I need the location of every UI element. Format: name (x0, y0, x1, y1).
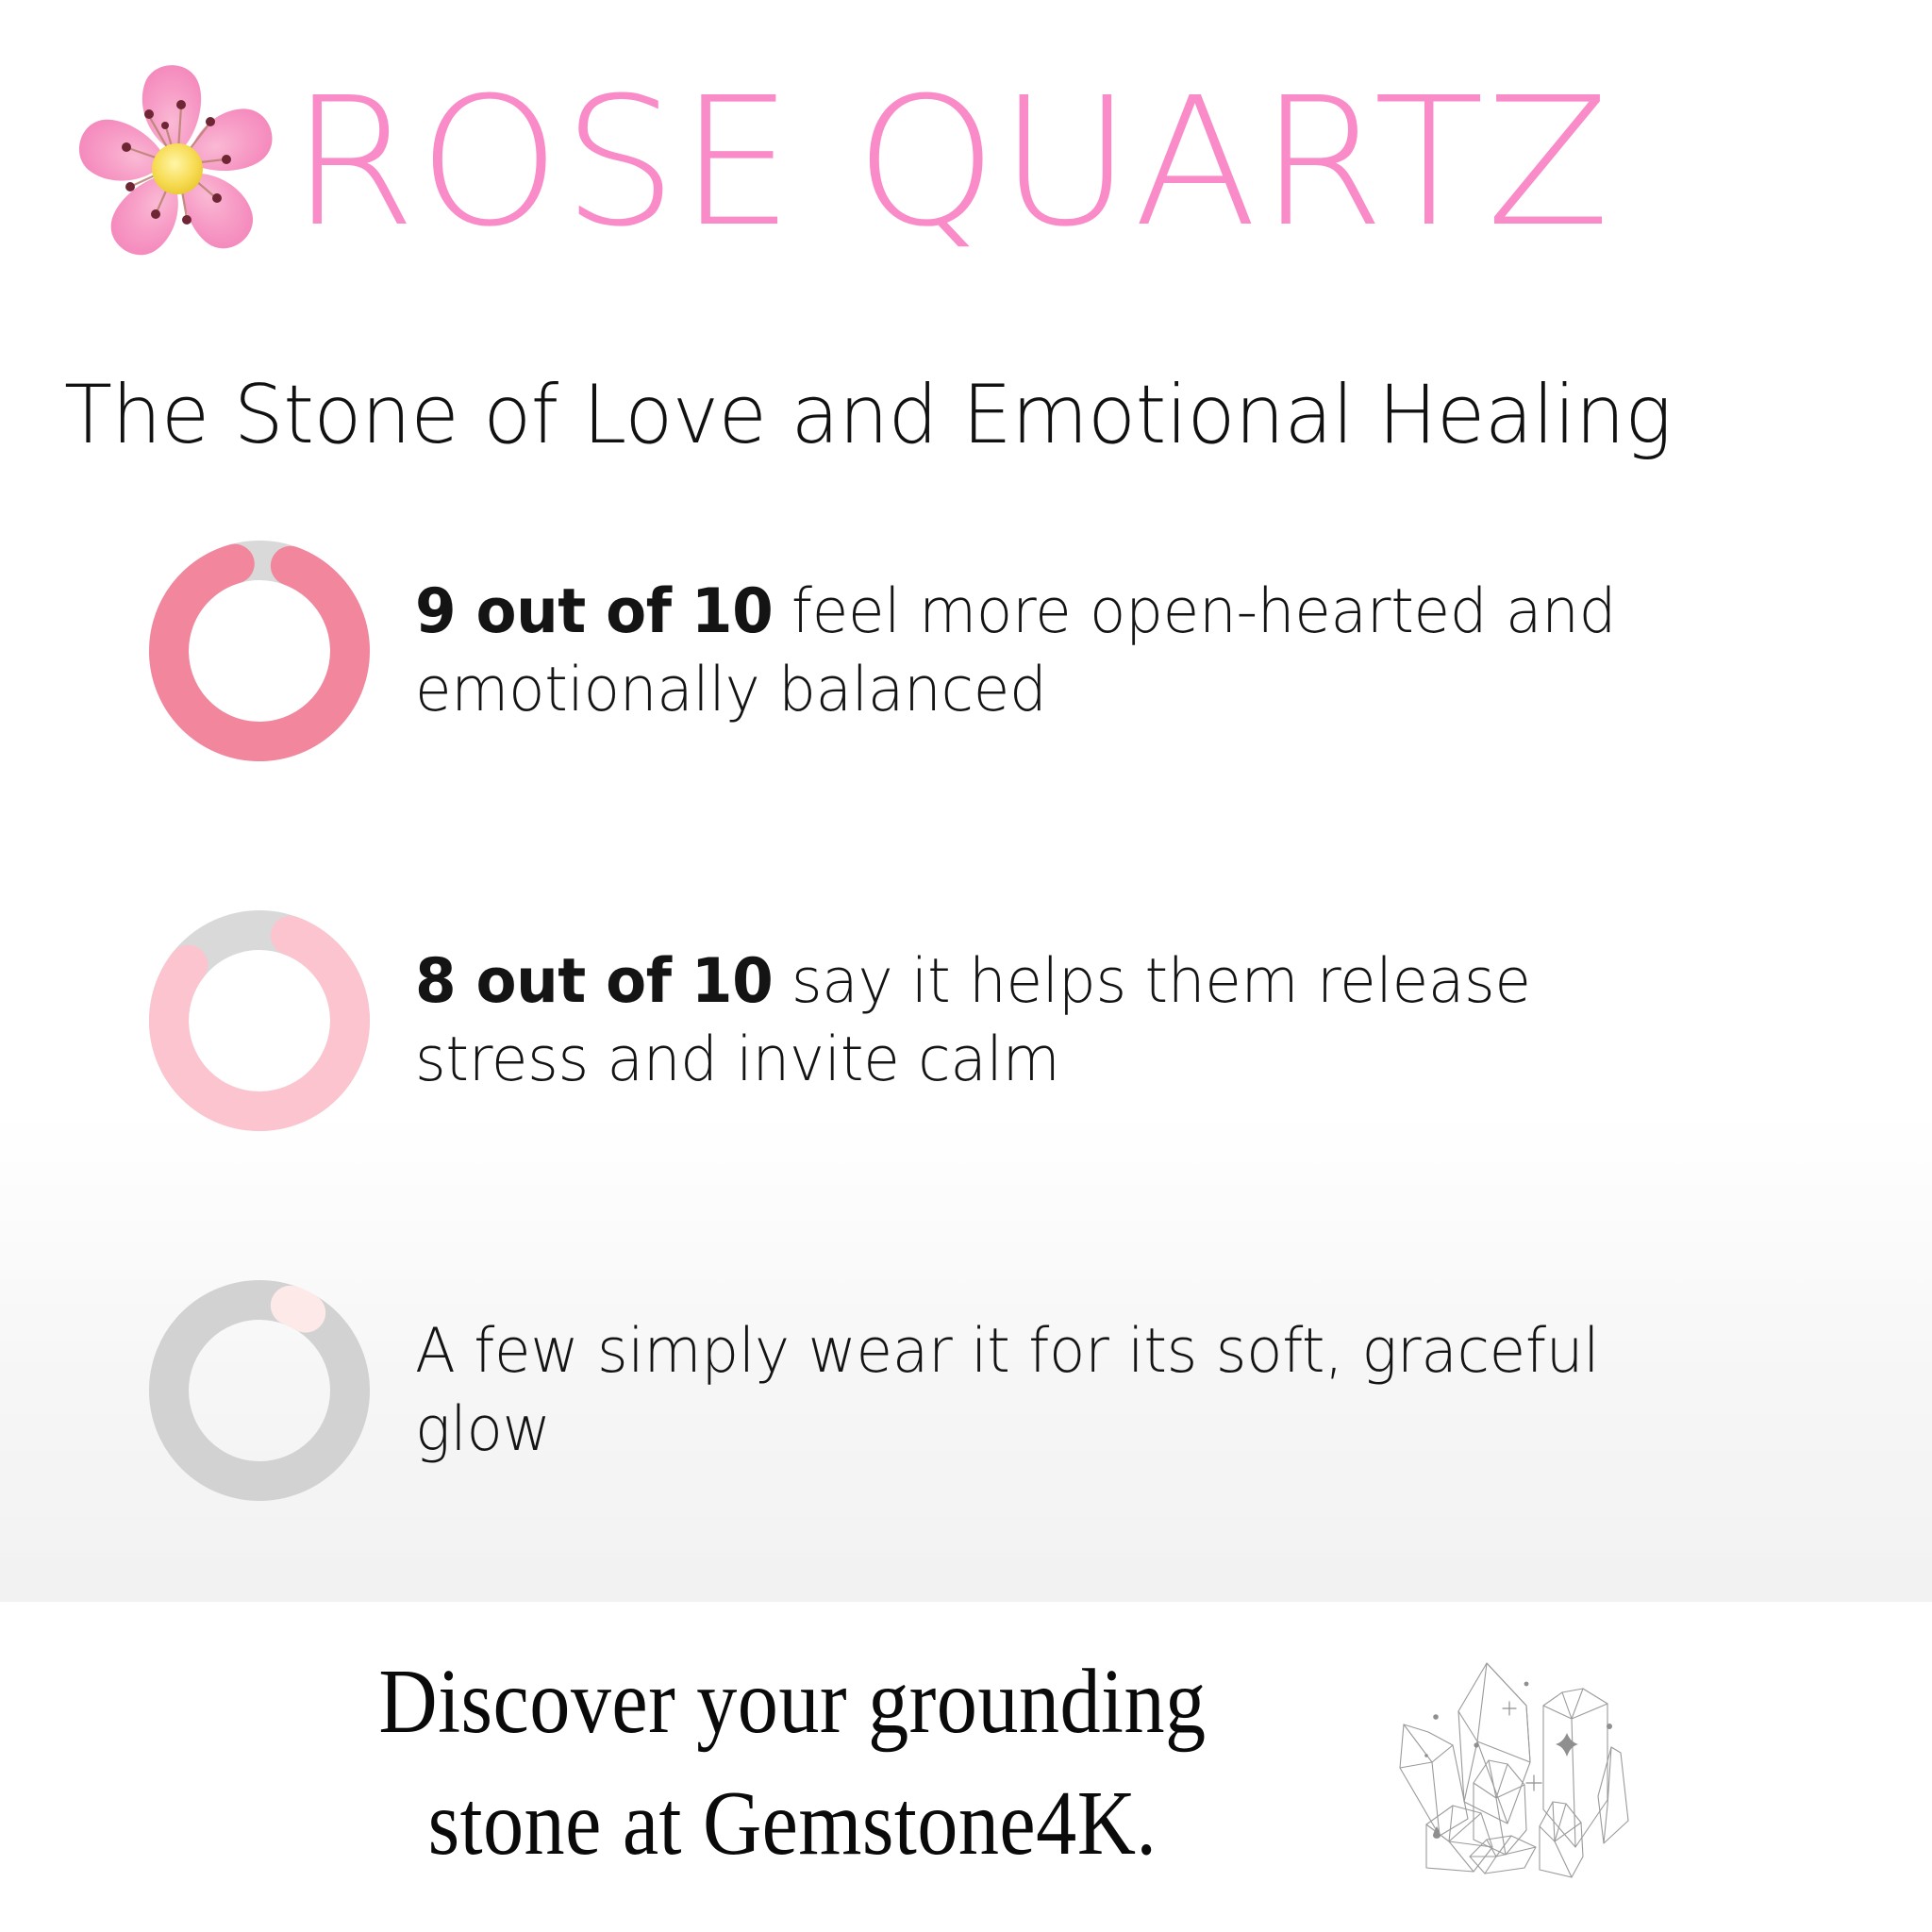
progress-ring-icon-1 (143, 535, 375, 767)
footer-cta: Discover your grounding stone at Gemston… (303, 1641, 1282, 1886)
stat-row: 8 out of 10 say it helps them release st… (0, 879, 1932, 1162)
header: ROSE QUARTZ (58, 45, 1879, 281)
progress-ring-icon-3 (143, 1274, 375, 1507)
stat-row: 9 out of 10 feel more open-hearted and e… (0, 509, 1932, 792)
stat-text-3: A few simply wear it for its soft, grace… (415, 1312, 1617, 1469)
stat-text-2: 8 out of 10 say it helps them release st… (415, 942, 1617, 1099)
stat-text-1: 9 out of 10 feel more open-hearted and e… (415, 573, 1617, 729)
progress-ring-icon-2 (143, 905, 375, 1137)
stat-row: A few simply wear it for its soft, grace… (0, 1249, 1932, 1532)
stat-lead-1: 9 out of 10 (415, 576, 773, 647)
footer-line-1: Discover your grounding (303, 1641, 1282, 1763)
stat-lead-2: 8 out of 10 (415, 946, 773, 1017)
footer-line-2: stone at Gemstone4K. (303, 1763, 1282, 1885)
crystal-cluster-icon (1387, 1621, 1726, 1904)
infographic-poster: ROSE QUARTZ The Stone of Love and Emotio… (0, 0, 1932, 1932)
stat-rest-3: A few simply wear it for its soft, grace… (415, 1316, 1599, 1465)
cherry-blossom-icon (58, 44, 296, 282)
page-title: ROSE QUARTZ (291, 75, 1612, 252)
subtitle: The Stone of Love and Emotional Healing (64, 368, 1830, 462)
stat-list: 9 out of 10 feel more open-hearted and e… (0, 509, 1932, 1532)
